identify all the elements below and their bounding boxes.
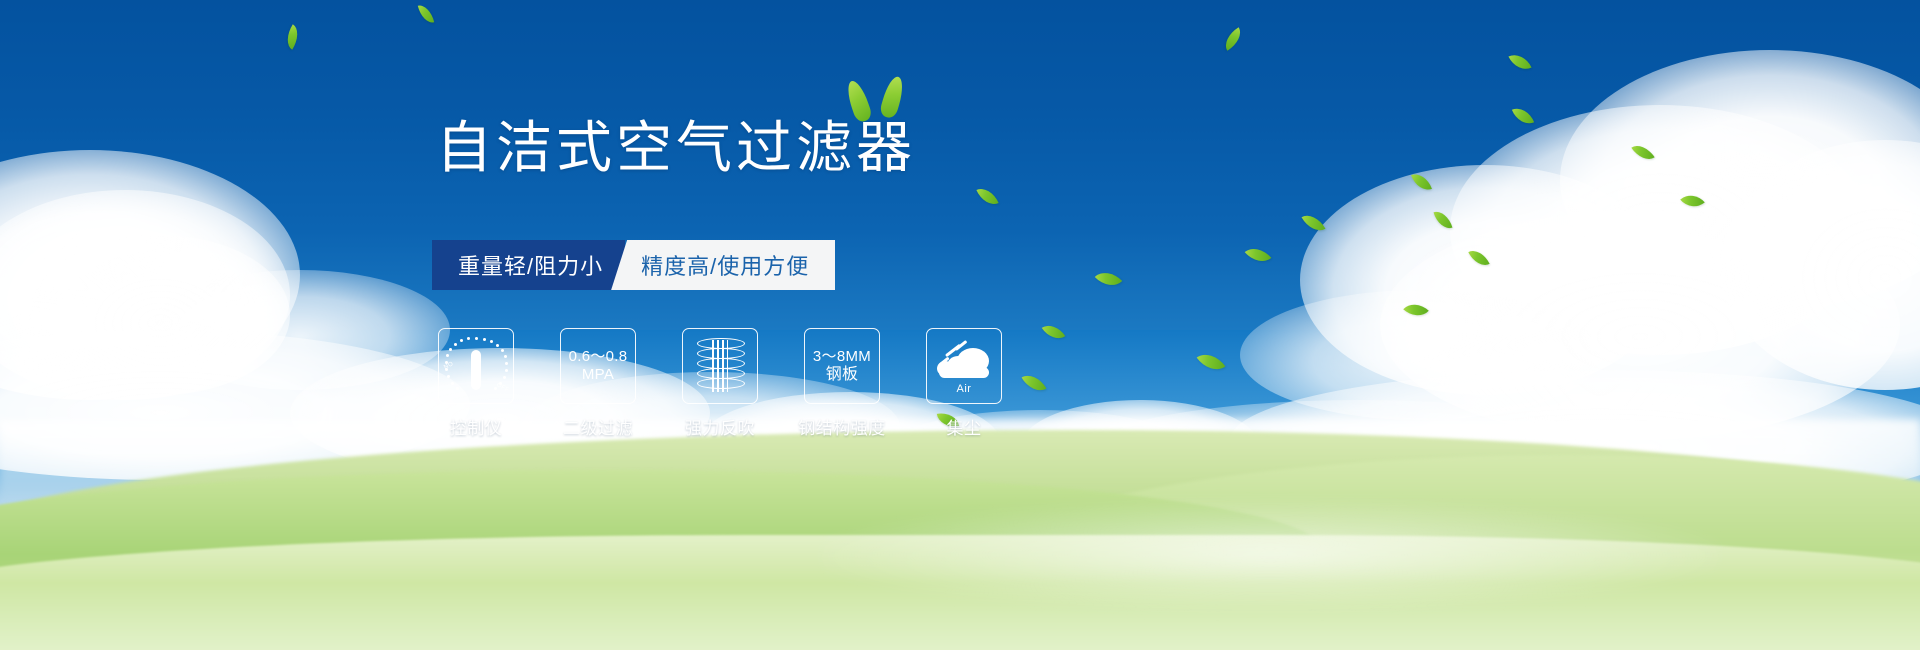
air-label: Air xyxy=(935,383,993,395)
steel-text-icon: 3～8MM 钢板 xyxy=(813,348,871,384)
dial-needle xyxy=(471,350,481,390)
feature-icon-box: NO OFF xyxy=(438,328,514,404)
feature-item-backblow[interactable]: 强力反吹 xyxy=(682,328,758,439)
feature-item-controller[interactable]: NO OFF 控制仪 xyxy=(438,328,514,439)
feature-caption: 钢结构强度 xyxy=(798,414,886,439)
product-hero-banner: 自洁式空气过滤器 重量轻/阻力小 精度高/使用方便 xyxy=(0,0,1920,650)
feature-caption: 控制仪 xyxy=(450,414,503,439)
feature-icon-box xyxy=(682,328,758,404)
subtitle-tab-secondary[interactable]: 精度高/使用方便 xyxy=(611,240,835,290)
title-leaf-pair xyxy=(848,76,910,124)
hero-title-block: 自洁式空气过滤器 xyxy=(436,118,916,180)
leaf-icon xyxy=(844,78,874,123)
pressure-range-value: 0.6～0.8 xyxy=(569,348,628,366)
filter-coil-icon xyxy=(697,337,743,395)
pressure-text-icon: 0.6～0.8 MPA xyxy=(569,348,628,384)
feature-icon-box: 0.6～0.8 MPA xyxy=(560,328,636,404)
feature-caption: 二级过滤 xyxy=(563,414,633,439)
subtitle-tab-primary[interactable]: 重量轻/阻力小 xyxy=(432,240,625,290)
dial-icon: NO OFF xyxy=(445,337,507,395)
steel-thickness-value: 3～8MM xyxy=(813,348,871,366)
feature-list: NO OFF 控制仪 0.6～0.8 MPA 二级过滤 xyxy=(438,328,1002,439)
pressure-unit: MPA xyxy=(569,366,628,384)
air-cloud-icon: Air xyxy=(935,340,993,392)
feature-item-dustcollect[interactable]: Air 集尘 xyxy=(926,328,1002,439)
steel-material-label: 钢板 xyxy=(813,366,871,384)
leaf-icon xyxy=(1197,347,1226,377)
page-title: 自洁式空气过滤器 xyxy=(436,118,916,180)
feature-item-pressure[interactable]: 0.6～0.8 MPA 二级过滤 xyxy=(560,328,636,439)
dial-label-off: OFF xyxy=(495,382,509,393)
feature-icon-box: Air xyxy=(926,328,1002,404)
leaf-icon xyxy=(1022,369,1047,396)
subtitle-tab-group: 重量轻/阻力小 精度高/使用方便 xyxy=(432,240,835,290)
leaf-icon xyxy=(879,74,907,119)
feature-item-steel[interactable]: 3～8MM 钢板 钢结构强度 xyxy=(804,328,880,439)
feature-icon-box: 3～8MM 钢板 xyxy=(804,328,880,404)
feature-caption: 强力反吹 xyxy=(685,414,755,439)
grass-light-sheen xyxy=(820,500,1720,610)
feature-caption: 集尘 xyxy=(947,414,982,439)
